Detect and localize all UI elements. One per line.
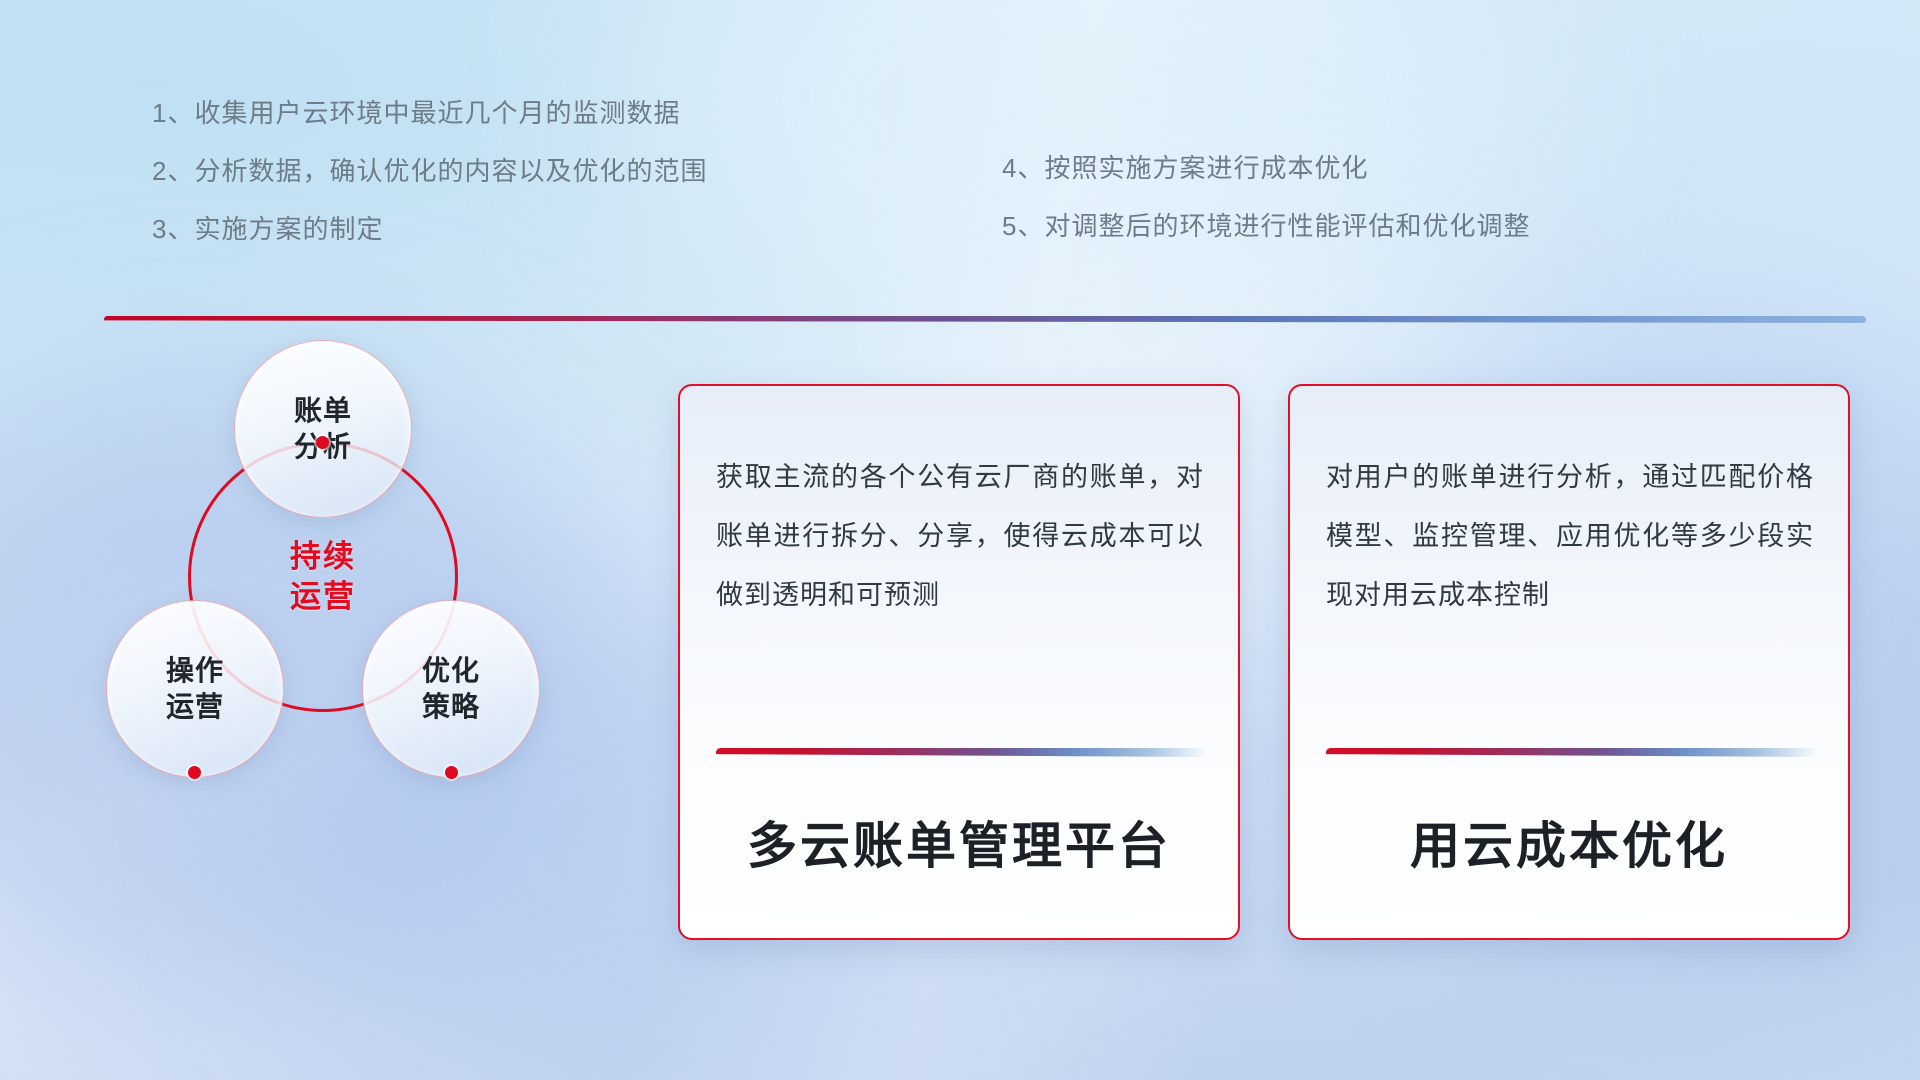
venn-node-ops-line-1: 操作 xyxy=(166,655,224,686)
card-1-divider xyxy=(716,748,1208,757)
step-item-5: 5、对调整后的环境进行性能评估和优化调整 xyxy=(1002,213,1530,239)
card-2-divider xyxy=(1326,748,1818,757)
steps-right-column: 4、按照实施方案进行成本优化 5、对调整后的环境进行性能评估和优化调整 xyxy=(1002,155,1530,271)
connector-dot-right xyxy=(445,766,458,779)
venn-node-optimization-policy[interactable]: 优化 策略 xyxy=(362,600,540,778)
step-item-4: 4、按照实施方案进行成本优化 xyxy=(1002,155,1530,181)
venn-node-policy-line-2: 策略 xyxy=(422,691,480,722)
card-1-description: 获取主流的各个公有云厂商的账单，对账单进行拆分、分享，使得云成本可以做到透明和可… xyxy=(716,448,1204,625)
center-label-line-2: 运营 xyxy=(290,579,356,614)
venn-node-bill-line-1: 账单 xyxy=(294,395,352,426)
steps-left-column: 1、收集用户云环境中最近几个月的监测数据 2、分析数据，确认优化的内容以及优化的… xyxy=(152,100,707,274)
venn-node-bill-analysis[interactable]: 账单 分析 xyxy=(234,340,412,518)
connector-dot-left xyxy=(188,766,201,779)
card-cloud-cost-optimization[interactable]: 对用户的账单进行分析，通过匹配价格模型、监控管理、应用优化等多少段实现对用云成本… xyxy=(1288,384,1850,940)
card-2-description: 对用户的账单进行分析，通过匹配价格模型、监控管理、应用优化等多少段实现对用云成本… xyxy=(1326,448,1814,625)
step-item-3: 3、实施方案的制定 xyxy=(152,216,707,242)
card-1-title: 多云账单管理平台 xyxy=(680,806,1238,878)
card-2-title: 用云成本优化 xyxy=(1290,806,1848,878)
step-item-1: 1、收集用户云环境中最近几个月的监测数据 xyxy=(152,100,707,126)
slide-canvas: 1、收集用户云环境中最近几个月的监测数据 2、分析数据，确认优化的内容以及优化的… xyxy=(0,0,1920,1080)
venn-node-policy-line-1: 优化 xyxy=(422,655,480,686)
venn-node-operations[interactable]: 操作 运营 xyxy=(106,600,284,778)
connector-dot-top xyxy=(316,436,329,449)
continuous-operation-diagram: 持续 运营 账单 分析 操作 运营 优化 策略 xyxy=(96,350,616,950)
venn-node-ops-line-2: 运营 xyxy=(166,691,224,722)
step-item-2: 2、分析数据，确认优化的内容以及优化的范围 xyxy=(152,158,707,184)
card-multi-cloud-billing-platform[interactable]: 获取主流的各个公有云厂商的账单，对账单进行拆分、分享，使得云成本可以做到透明和可… xyxy=(678,384,1240,940)
center-label-line-1: 持续 xyxy=(290,539,356,574)
